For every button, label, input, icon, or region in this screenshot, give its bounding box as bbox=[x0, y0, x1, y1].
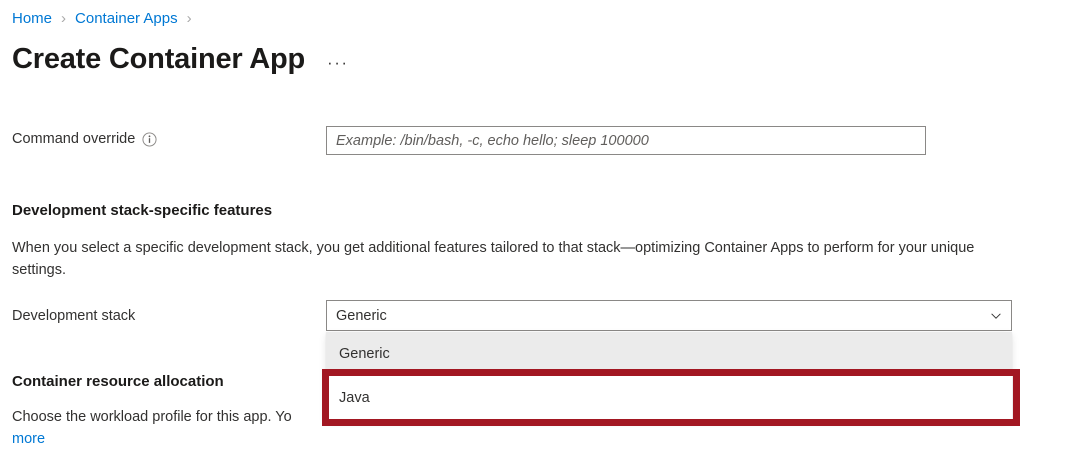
development-stack-combobox[interactable]: Generic bbox=[326, 300, 1012, 331]
more-actions-icon[interactable]: ··· bbox=[327, 56, 348, 70]
resource-section-heading: Container resource allocation bbox=[12, 372, 224, 392]
learn-more-link[interactable]: more bbox=[12, 428, 1012, 450]
page-header: Create Container App ··· bbox=[12, 40, 349, 78]
command-override-input[interactable] bbox=[326, 126, 926, 155]
dropdown-option-generic[interactable]: Generic bbox=[326, 332, 1012, 376]
dev-stack-section-description: When you select a specific development s… bbox=[12, 237, 1012, 281]
breadcrumb-item-home[interactable]: Home bbox=[12, 9, 52, 29]
dropdown-option-java[interactable]: Java bbox=[326, 376, 1012, 420]
chevron-down-icon[interactable] bbox=[989, 309, 1003, 323]
breadcrumb-item-container-apps[interactable]: Container Apps bbox=[75, 9, 178, 29]
resource-description-text: Choose the workload profile for this app… bbox=[12, 409, 292, 425]
development-stack-dropdown-list: Generic Java bbox=[326, 332, 1012, 420]
command-override-label-group: Command override bbox=[12, 129, 157, 149]
breadcrumb: Home › Container Apps › bbox=[12, 9, 201, 29]
dev-stack-section-heading: Development stack-specific features bbox=[12, 201, 272, 221]
command-override-label: Command override bbox=[12, 129, 135, 149]
development-stack-label: Development stack bbox=[12, 306, 135, 326]
page-title: Create Container App bbox=[12, 40, 305, 78]
breadcrumb-separator-icon: › bbox=[187, 9, 192, 29]
breadcrumb-separator-icon: › bbox=[61, 9, 66, 29]
development-stack-selected-value: Generic bbox=[336, 306, 387, 326]
info-icon[interactable] bbox=[142, 132, 157, 147]
